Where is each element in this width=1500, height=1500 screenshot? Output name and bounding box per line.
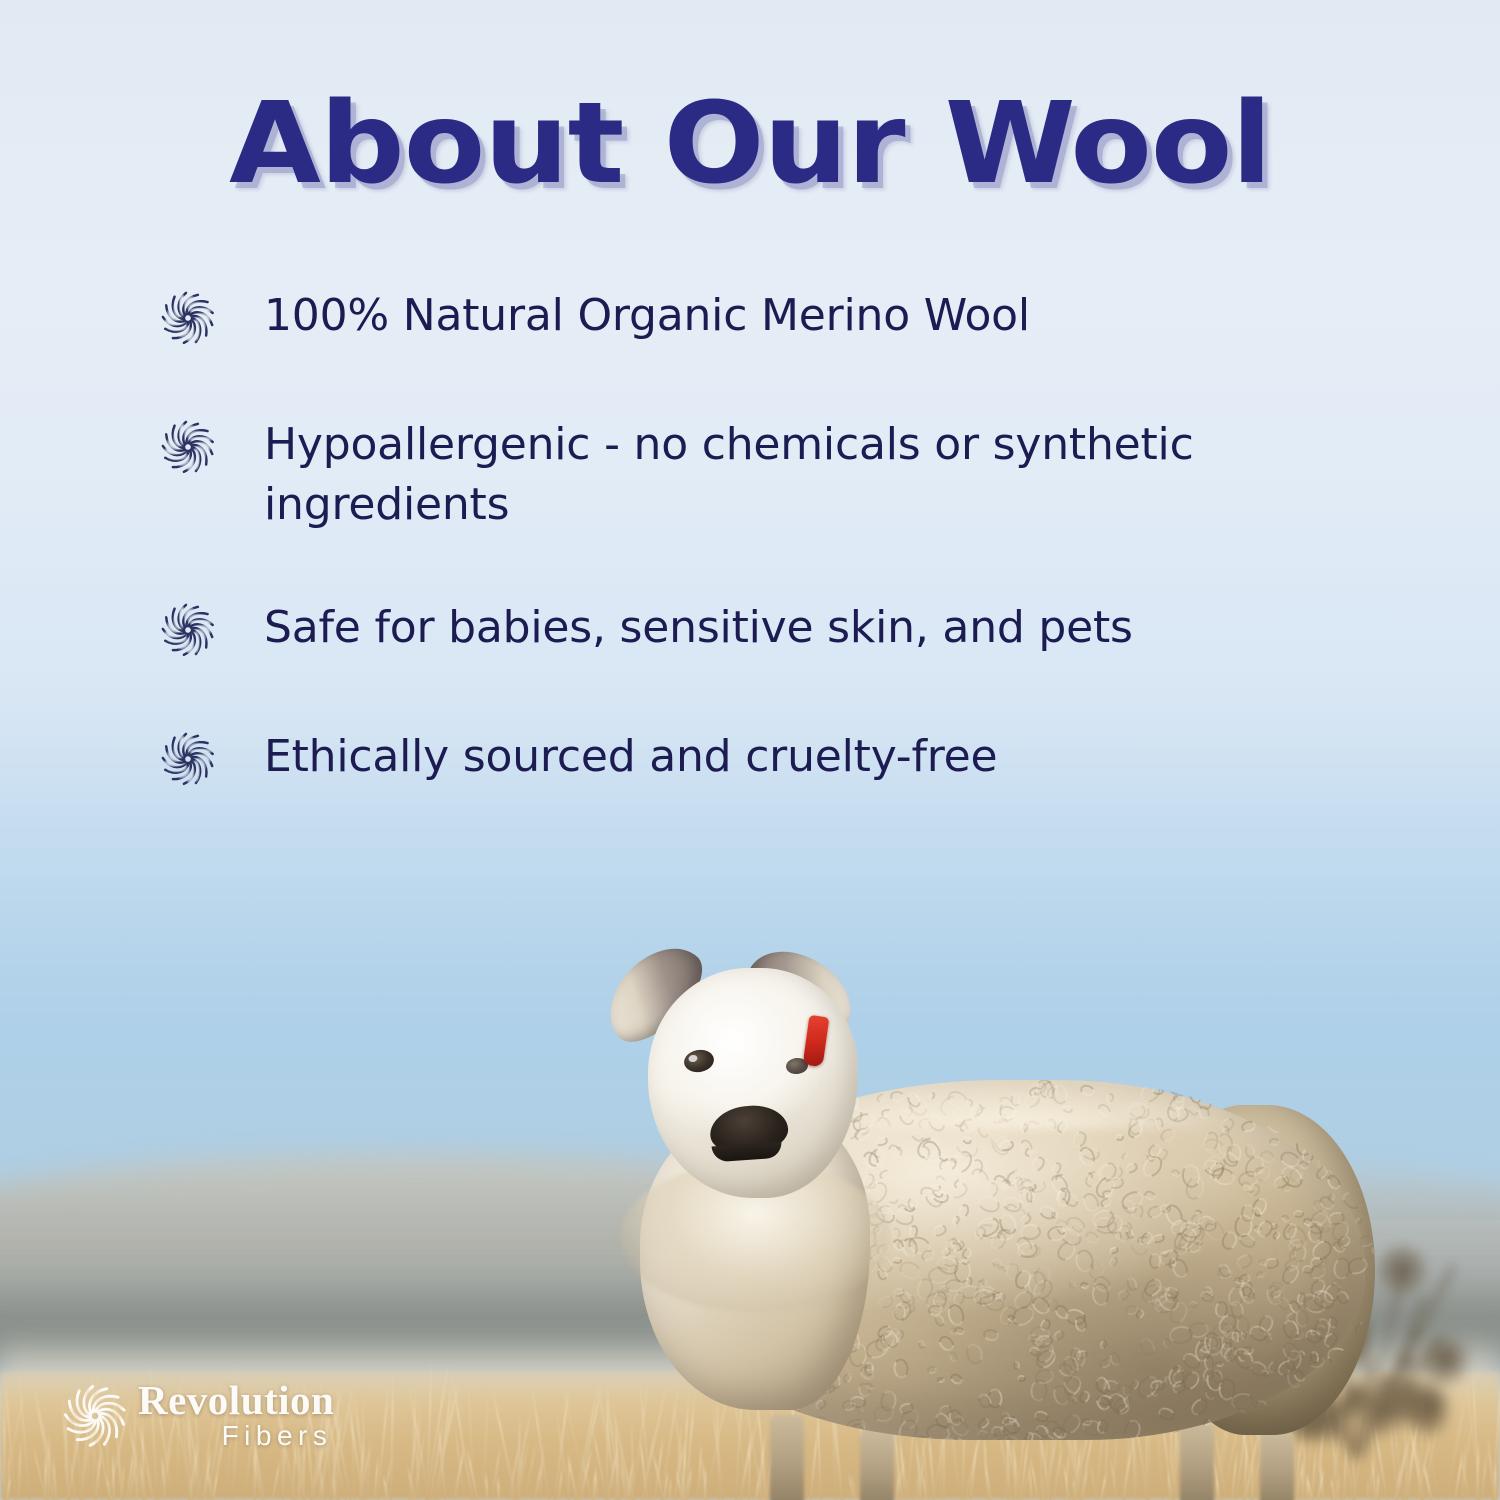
logo-wordmark: Revolution Fibers <box>138 1380 334 1452</box>
fiber-swirl-icon <box>160 602 216 658</box>
feature-item: 100% Natural Organic Merino Wool <box>160 286 1360 347</box>
feature-list: 100% Natural Organic Merino WoolHypoalle… <box>160 286 1360 856</box>
feature-item: Hypoallergenic - no chemicals or synthet… <box>160 415 1360 536</box>
feature-item-label: 100% Natural Organic Merino Wool <box>264 286 1030 347</box>
fiber-swirl-icon <box>160 290 216 346</box>
feature-item-label: Safe for babies, sensitive skin, and pet… <box>264 598 1133 659</box>
logo-secondary-text: Fibers <box>138 1420 334 1452</box>
feature-item-label: Ethically sourced and cruelty-free <box>264 727 997 788</box>
feature-item-label: Hypoallergenic - no chemicals or synthet… <box>264 415 1354 536</box>
page-title: About Our Wool <box>0 88 1500 200</box>
fiber-swirl-icon <box>160 419 216 475</box>
wool-infographic-poster: About Our Wool 100% Natural Organic Meri… <box>0 0 1500 1500</box>
fiber-swirl-icon <box>160 731 216 787</box>
feature-item: Ethically sourced and cruelty-free <box>160 727 1360 788</box>
sheep-head <box>648 968 858 1198</box>
fiber-swirl-icon <box>62 1383 128 1449</box>
brand-logo: Revolution Fibers <box>62 1380 334 1452</box>
feature-item: Safe for babies, sensitive skin, and pet… <box>160 598 1360 659</box>
logo-primary-text: Revolution <box>138 1380 334 1420</box>
